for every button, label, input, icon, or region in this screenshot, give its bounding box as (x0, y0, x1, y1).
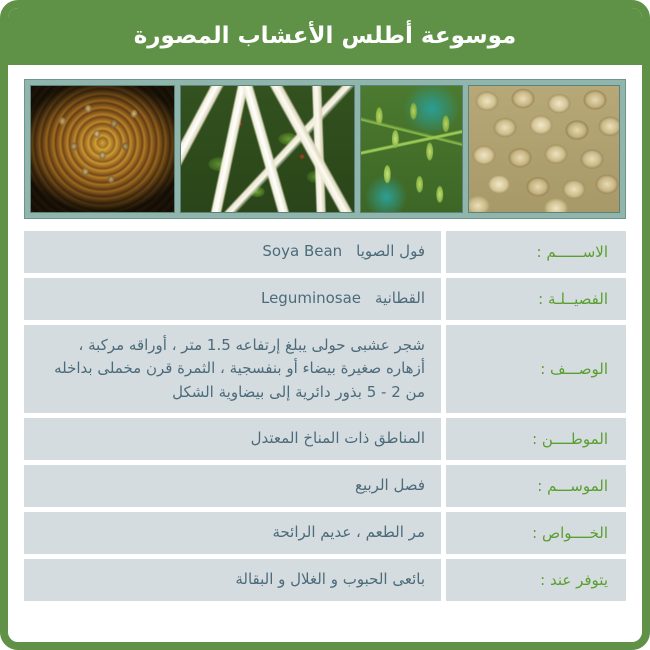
photo-green-soybean-pods (360, 85, 463, 213)
herb-atlas-card: موسوعة أطلس الأعشاب المصورة الاســــــم … (0, 0, 650, 650)
table-row-season: الموســـم : فصل الربيع (24, 465, 626, 507)
row-label-season: الموســـم : (446, 465, 626, 507)
gallery-section (8, 65, 642, 227)
photo-strip (24, 79, 626, 219)
row-value-family: القطانية Leguminosae (24, 278, 441, 320)
soybean-sprouts-image (181, 86, 354, 212)
herb-info-table: الاســــــم : فول الصويا Soya Bean الفصي… (8, 227, 642, 611)
row-label-description: الوصـــف : (446, 325, 626, 413)
row-value-name-arabic: فول الصويا (356, 240, 425, 263)
row-value-season: فصل الربيع (24, 465, 441, 507)
photo-soybean-sprouts (180, 85, 355, 213)
dry-brown-soybean-seeds-image (31, 86, 174, 212)
page-title: موسوعة أطلس الأعشاب المصورة (134, 23, 517, 49)
row-value-family-latin: Leguminosae (261, 287, 361, 310)
green-soybean-pods-image (361, 86, 462, 212)
row-value-family-arabic: القطانية (375, 287, 425, 310)
row-value-habitat: المناطق ذات المناخ المعتدل (24, 418, 441, 460)
page-header: موسوعة أطلس الأعشاب المصورة (7, 7, 643, 65)
table-row-properties: الخــــواص : مر الطعم ، عديم الرائحة (24, 512, 626, 554)
row-label-availability: يتوفر عند : (446, 559, 626, 601)
photo-cream-soybean-seeds (468, 85, 620, 213)
table-row-description: الوصـــف : شجر عشبى حولى يبلغ إرتفاعه 1.… (24, 325, 626, 413)
row-value-availability: بائعى الحبوب و الغلال و البقالة (24, 559, 441, 601)
table-row-habitat: الموطــــن : المناطق ذات المناخ المعتدل (24, 418, 626, 460)
row-value-properties: مر الطعم ، عديم الرائحة (24, 512, 441, 554)
row-label-name: الاســــــم : (446, 231, 626, 273)
table-row-name: الاســــــم : فول الصويا Soya Bean (24, 231, 626, 273)
row-value-name-latin: Soya Bean (262, 240, 342, 263)
cream-soybean-seeds-image (469, 86, 619, 212)
row-label-properties: الخــــواص : (446, 512, 626, 554)
row-value-name: فول الصويا Soya Bean (24, 231, 441, 273)
row-label-habitat: الموطــــن : (446, 418, 626, 460)
row-value-description: شجر عشبى حولى يبلغ إرتفاعه 1.5 متر ، أور… (24, 325, 441, 413)
photo-dry-brown-soybean-seeds (30, 85, 175, 213)
row-label-family: الفصيــلـة : (446, 278, 626, 320)
table-row-family: الفصيــلـة : القطانية Leguminosae (24, 278, 626, 320)
table-row-availability: يتوفر عند : بائعى الحبوب و الغلال و البق… (24, 559, 626, 601)
